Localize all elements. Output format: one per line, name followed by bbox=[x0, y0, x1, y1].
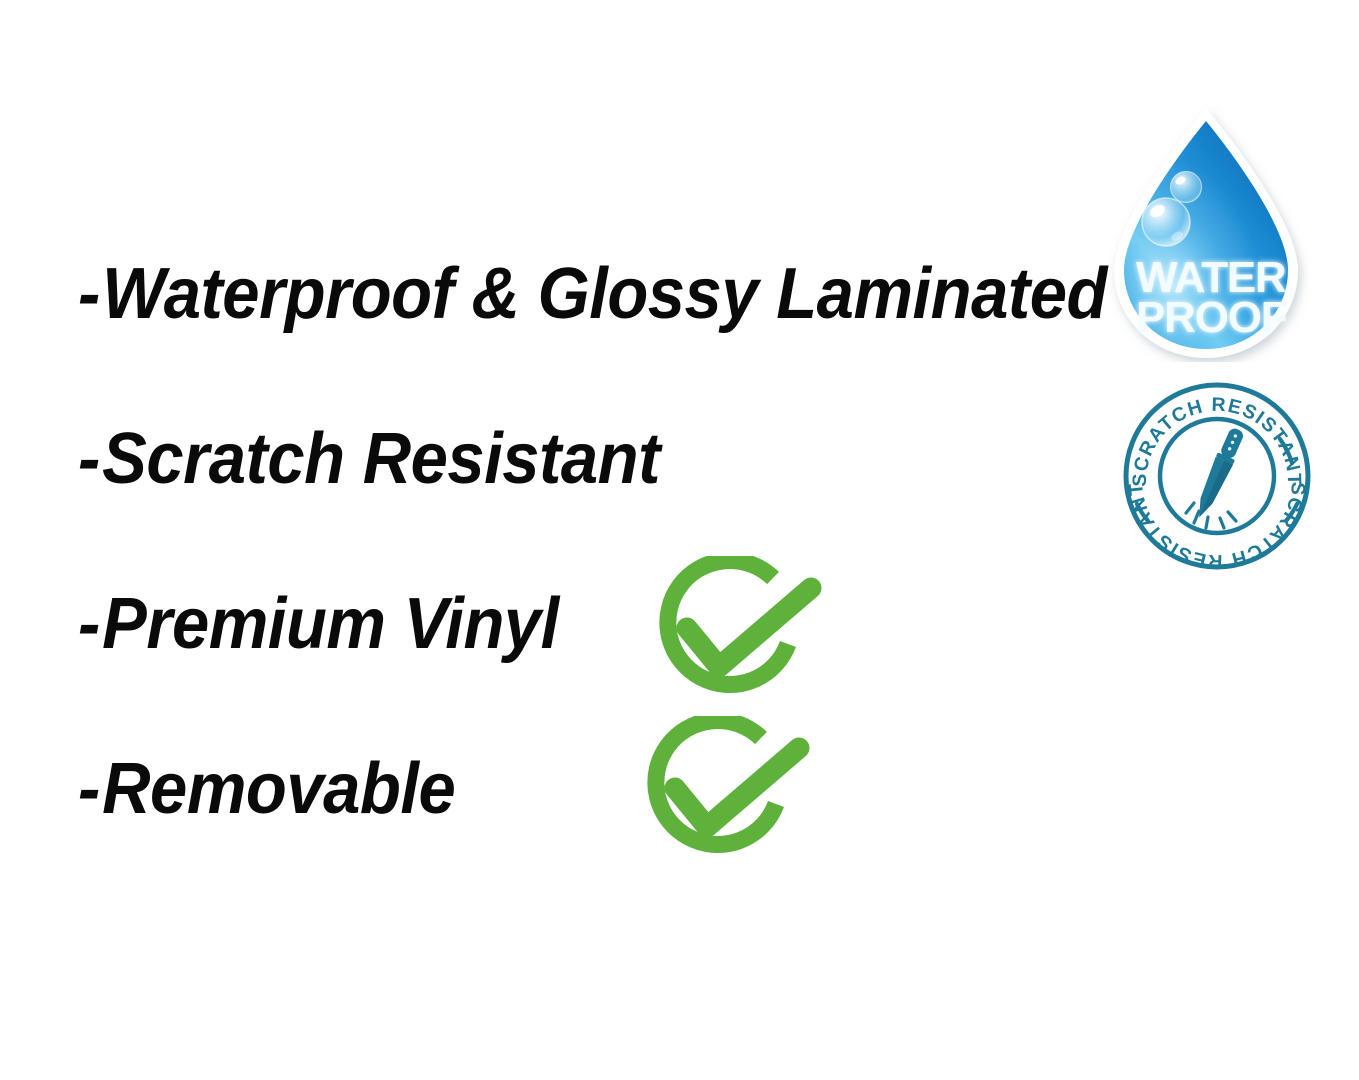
feature-bullet: - bbox=[78, 254, 102, 334]
feature-bullet: - bbox=[78, 584, 102, 664]
feature-list-page: -Waterproof & Glossy Laminated -Scratch … bbox=[0, 0, 1359, 1080]
feature-line-premium-vinyl: -Premium Vinyl bbox=[78, 588, 559, 660]
impact-marks-icon bbox=[1186, 503, 1236, 528]
feature-label: Waterproof & Glossy Laminated bbox=[102, 254, 1107, 334]
feature-line-removable: -Removable bbox=[78, 753, 455, 825]
feature-label: Removable bbox=[102, 749, 455, 829]
knife-icon bbox=[1190, 426, 1246, 521]
feature-label: Scratch Resistant bbox=[102, 419, 660, 499]
bubble-small-icon bbox=[1171, 172, 1202, 203]
check-circle-badge-removable bbox=[633, 716, 819, 876]
bubble-large-icon bbox=[1142, 198, 1190, 246]
feature-line-waterproof: -Waterproof & Glossy Laminated bbox=[78, 258, 1107, 330]
feature-bullet: - bbox=[78, 419, 102, 499]
waterproof-badge: WATER PROOF bbox=[1102, 104, 1310, 362]
scratch-resistant-badge: SCRATCH RESISTANT SCRATCH RESISTANT bbox=[1120, 381, 1314, 571]
feature-bullet: - bbox=[78, 749, 102, 829]
check-mark-icon bbox=[675, 748, 799, 827]
check-mark-icon bbox=[687, 588, 811, 667]
waterproof-label-line2: PROOF bbox=[1136, 293, 1287, 342]
check-circle-badge-premium-vinyl bbox=[645, 556, 831, 716]
feature-line-scratch-resistant: -Scratch Resistant bbox=[78, 423, 660, 495]
feature-label: Premium Vinyl bbox=[102, 584, 559, 664]
